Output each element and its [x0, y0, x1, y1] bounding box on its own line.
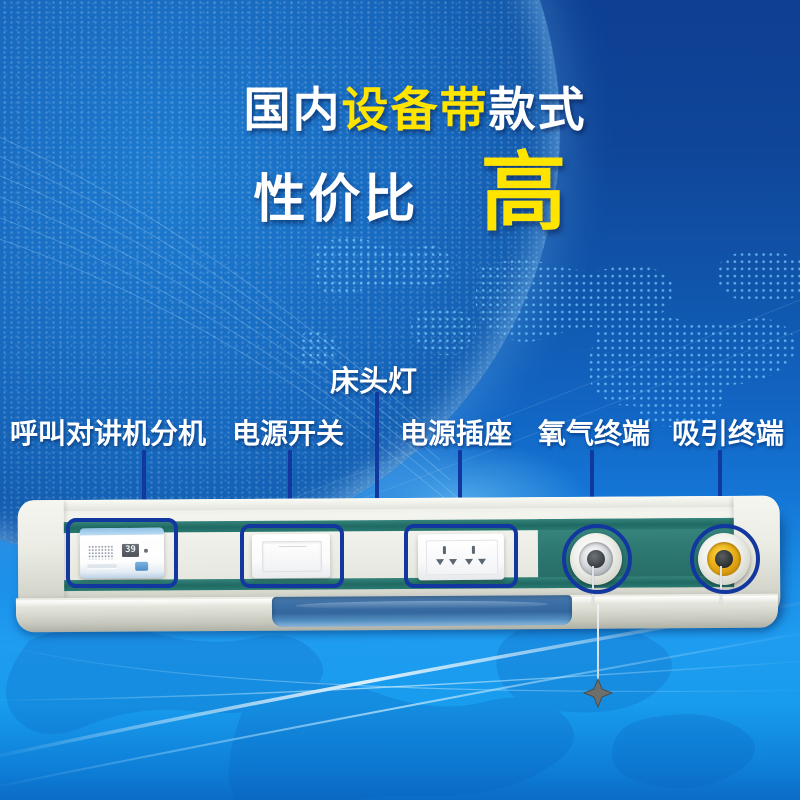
promo-banner: 国内设备带款式 性价比 高 床头灯 呼叫对讲机分机 电源开关 电源插座 氧气终端…	[0, 0, 800, 800]
intercom-call-button[interactable]	[135, 562, 148, 571]
socket-pin-live-right	[472, 546, 475, 554]
power-socket-plate	[426, 540, 498, 576]
callout-label-socket: 电源插座	[400, 412, 512, 452]
callout-label-suction: 吸引终端	[672, 412, 784, 452]
intercom-indicator-dot	[144, 549, 148, 553]
power-switch[interactable]	[252, 534, 330, 579]
callout-label-oxygen: 氧气终端	[538, 412, 650, 452]
socket-pin-angled-2	[449, 559, 457, 565]
power-switch-line	[279, 546, 307, 547]
speaker-grille-icon	[88, 545, 114, 559]
intercom-display: 39	[122, 544, 139, 557]
cross-weight-icon	[583, 678, 613, 708]
nurse-call-intercom-extension[interactable]: 39	[80, 528, 165, 579]
power-socket[interactable]	[418, 534, 504, 581]
lamp-pull-cord[interactable]	[597, 604, 599, 686]
callout-label-group: 床头灯 呼叫对讲机分机 电源开关 电源插座 氧气终端 吸引终端	[0, 0, 800, 800]
socket-pin-angled-1	[436, 559, 444, 565]
callout-label-intercom: 呼叫对讲机分机	[10, 412, 206, 452]
power-switch-rocker[interactable]	[262, 541, 322, 573]
callout-label-switch: 电源开关	[232, 412, 344, 452]
socket-pin-angled-4	[478, 559, 486, 565]
bedside-lamp-cover	[272, 595, 572, 627]
highlight-ring-suction	[690, 524, 760, 594]
intercom-top-bezel	[80, 528, 164, 536]
socket-pin-angled-3	[465, 559, 473, 565]
panel-top-edge	[18, 496, 780, 512]
intercom-slot	[87, 564, 117, 568]
callout-label-lamp: 床头灯	[330, 358, 417, 400]
socket-pin-live-left	[443, 546, 446, 554]
highlight-ring-oxygen	[562, 524, 632, 594]
